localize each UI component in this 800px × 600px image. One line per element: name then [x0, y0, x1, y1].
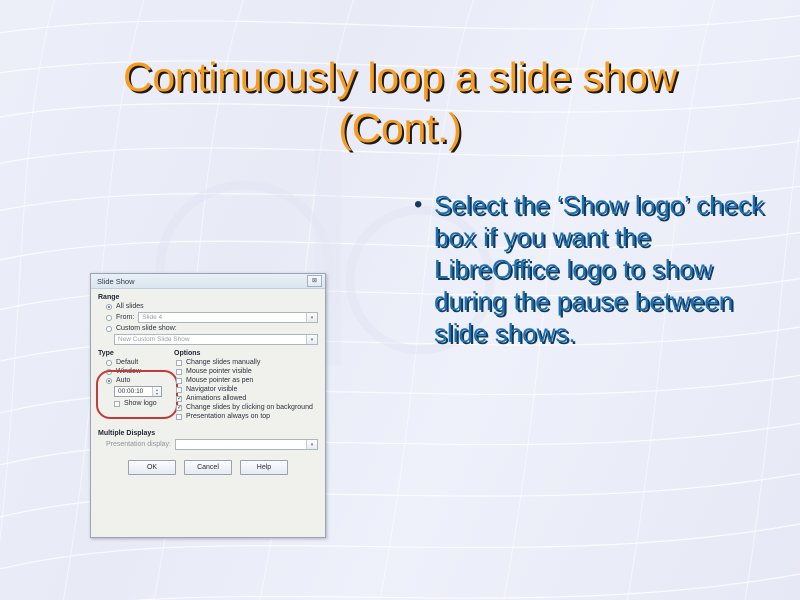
checkbox-navigator-visible-icon[interactable]: [176, 387, 182, 393]
checkbox-change-slides-manually-icon[interactable]: [176, 360, 182, 366]
chevron-down-icon[interactable]: ▾: [306, 440, 317, 449]
slide-canvas: Continuously loop a slide show (Cont.) •…: [0, 0, 800, 600]
presentation-display-value: [176, 440, 306, 449]
radio-from-label: From:: [116, 314, 134, 321]
from-slide-dropdown[interactable]: Slide 4 ▾: [138, 312, 318, 323]
chevron-down-icon[interactable]: ▾: [306, 313, 317, 322]
radio-auto-icon[interactable]: [106, 378, 112, 384]
checkbox-show-logo-icon[interactable]: [114, 401, 120, 407]
checkbox-animations-allowed[interactable]: Animations allowed: [174, 395, 318, 402]
dialog-button-bar: OK Cancel Help: [98, 460, 318, 475]
type-group-label: Type: [98, 350, 172, 357]
checkbox-mouse-pointer-visible-icon[interactable]: [176, 369, 182, 375]
radio-window[interactable]: Window: [98, 368, 172, 375]
from-slide-value: Slide 4: [139, 313, 306, 322]
slide-show-dialog: Slide Show ⊠ Range All slides From: Slid…: [90, 273, 326, 538]
presentation-display-dropdown[interactable]: ▾: [175, 439, 318, 450]
checkbox-presentation-always-on-top[interactable]: Presentation always on top: [174, 413, 318, 420]
checkbox-show-logo[interactable]: Show logo: [98, 400, 172, 407]
dialog-body: Range All slides From: Slide 4 ▾ Custom …: [91, 289, 325, 537]
radio-all-slides-label: All slides: [116, 303, 144, 310]
checkbox-navigator-visible-label: Navigator visible: [186, 386, 237, 393]
radio-from[interactable]: From: Slide 4 ▾: [98, 312, 318, 323]
presentation-display-row: Presentation display: ▾: [98, 439, 318, 450]
options-group-label: Options: [174, 350, 318, 357]
radio-default-label: Default: [116, 359, 138, 366]
close-icon[interactable]: ⊠: [307, 275, 322, 287]
radio-auto-label: Auto: [116, 377, 130, 384]
radio-default[interactable]: Default: [98, 359, 172, 366]
checkbox-change-slides-manually[interactable]: Change slides manually: [174, 359, 318, 366]
dialog-titlebar: Slide Show ⊠: [91, 274, 325, 289]
checkbox-change-slides-by-clicking-icon[interactable]: [176, 405, 182, 411]
body-content: • Select the ‘Show logo’ check box if yo…: [414, 189, 764, 349]
stepper-down-icon[interactable]: ▾: [156, 392, 158, 396]
checkbox-change-slides-by-clicking-label: Change slides by clicking on background: [186, 404, 313, 411]
checkbox-mouse-pointer-as-pen-icon[interactable]: [176, 378, 182, 384]
bullet-text: Select the ‘Show logo’ check box if you …: [434, 189, 764, 349]
presentation-display-label: Presentation display:: [106, 441, 171, 448]
radio-custom-slide-show-icon[interactable]: [106, 326, 112, 332]
type-group: Type Default Window Auto: [98, 350, 172, 422]
radio-default-icon[interactable]: [106, 360, 112, 366]
page-title: Continuously loop a slide show (Cont.): [40, 52, 760, 154]
list-item: • Select the ‘Show logo’ check box if yo…: [414, 189, 764, 349]
radio-window-label: Window: [116, 368, 141, 375]
type-and-options-section: Type Default Window Auto: [98, 350, 318, 422]
checkbox-mouse-pointer-as-pen[interactable]: Mouse pointer as pen: [174, 377, 318, 384]
checkbox-mouse-pointer-visible-label: Mouse pointer visible: [186, 368, 252, 375]
checkbox-animations-allowed-label: Animations allowed: [186, 395, 246, 402]
checkbox-change-slides-by-clicking[interactable]: Change slides by clicking on background: [174, 404, 318, 411]
auto-duration-stepper[interactable]: 00:00:10 ▴ ▾: [114, 386, 162, 397]
custom-slide-show-dropdown[interactable]: New Custom Slide Show ▾: [114, 334, 318, 345]
checkbox-mouse-pointer-as-pen-label: Mouse pointer as pen: [186, 377, 253, 384]
custom-slide-show-value: New Custom Slide Show: [115, 335, 306, 344]
checkbox-animations-allowed-icon[interactable]: [176, 396, 182, 402]
multiple-displays-label: Multiple Displays: [98, 430, 318, 437]
radio-custom-slide-show-label: Custom slide show:: [116, 325, 177, 332]
help-button[interactable]: Help: [240, 460, 288, 475]
radio-all-slides[interactable]: All slides: [98, 303, 318, 310]
chevron-down-icon[interactable]: ▾: [306, 335, 317, 344]
ok-button[interactable]: OK: [128, 460, 176, 475]
checkbox-change-slides-manually-label: Change slides manually: [186, 359, 260, 366]
radio-custom-slide-show[interactable]: Custom slide show:: [98, 325, 318, 332]
auto-duration-value: 00:00:10: [115, 387, 152, 396]
cancel-button[interactable]: Cancel: [184, 460, 232, 475]
bullet-icon: •: [414, 189, 434, 221]
range-group-label: Range: [98, 294, 318, 301]
page-title-line-2: (Cont.): [40, 103, 760, 154]
checkbox-presentation-always-on-top-label: Presentation always on top: [186, 413, 270, 420]
checkbox-mouse-pointer-visible[interactable]: Mouse pointer visible: [174, 368, 318, 375]
radio-from-icon[interactable]: [106, 315, 112, 321]
radio-window-icon[interactable]: [106, 369, 112, 375]
radio-auto[interactable]: Auto: [98, 377, 172, 384]
options-group: Options Change slides manually Mouse poi…: [172, 350, 318, 422]
radio-all-slides-icon[interactable]: [106, 304, 112, 310]
page-title-line-1: Continuously loop a slide show: [40, 52, 760, 103]
multiple-displays-group: Multiple Displays Presentation display: …: [98, 430, 318, 450]
checkbox-navigator-visible[interactable]: Navigator visible: [174, 386, 318, 393]
dialog-title: Slide Show: [97, 277, 307, 286]
stepper-arrows-icon[interactable]: ▴ ▾: [152, 387, 161, 396]
checkbox-show-logo-label: Show logo: [124, 400, 157, 407]
checkbox-presentation-always-on-top-icon[interactable]: [176, 414, 182, 420]
